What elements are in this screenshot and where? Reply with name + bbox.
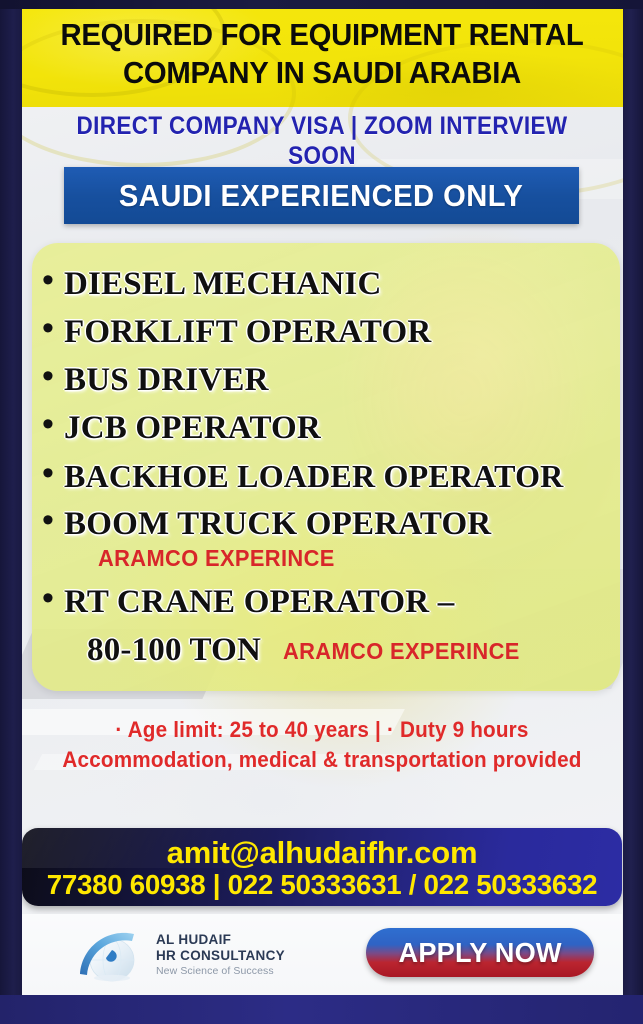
apply-now-label: APPLY NOW: [398, 937, 561, 969]
title-line-1: REQUIRED FOR EQUIPMENT RENTAL: [30, 16, 614, 54]
logo-line-2: HR CONSULTANCY: [156, 948, 285, 964]
list-item: • RT CRANE OPERATOR –: [42, 583, 620, 621]
contact-panel: amit@alhudaifhr.com 77380 60938 | 022 50…: [22, 828, 622, 906]
visa-subheadline: DIRECT COMPANY VISA | ZOOM INTERVIEW SOO…: [48, 111, 595, 171]
terms-block: · Age limit: 25 to 40 years | · Duty 9 h…: [18, 715, 626, 775]
footer-bar: AL HUDAIF HR CONSULTANCY New Science of …: [22, 914, 622, 995]
company-logo: AL HUDAIF HR CONSULTANCY New Science of …: [72, 926, 285, 984]
job-title: BACKHOE LOADER OPERATOR: [64, 457, 563, 495]
contact-email[interactable]: amit@alhudaifhr.com: [22, 834, 622, 872]
title-line-2: COMPANY IN SAUDI ARABIA: [30, 54, 614, 92]
experience-banner-label: SAUDI EXPERIENCED ONLY: [119, 178, 523, 214]
bullet-icon: •: [42, 581, 64, 615]
job-title: DIESEL MECHANIC: [64, 265, 381, 303]
job-title: BUS DRIVER: [64, 361, 269, 399]
job-title-continuation: 80-100 TON: [87, 631, 261, 669]
frame-top-edge: [0, 0, 643, 9]
apply-now-button[interactable]: APPLY NOW: [366, 928, 594, 977]
job-title: FORKLIFT OPERATOR: [64, 313, 431, 351]
bullet-icon: •: [42, 359, 64, 393]
list-item: • JCB OPERATOR: [42, 409, 620, 447]
logo-tagline: New Science of Success: [156, 964, 285, 978]
job-title: JCB OPERATOR: [64, 409, 321, 447]
list-item: • BACKHOE LOADER OPERATOR: [42, 457, 620, 495]
globe-logo-icon: [72, 926, 150, 984]
bullet-icon: •: [42, 311, 64, 345]
list-item: • DIESEL MECHANIC: [42, 265, 620, 303]
logo-text-block: AL HUDAIF HR CONSULTANCY New Science of …: [156, 932, 285, 978]
list-item: • BOOM TRUCK OPERATOR: [42, 505, 620, 543]
frame-bottom-edge: [0, 995, 643, 1024]
aramco-experience-note: ARAMCO EXPERINCE: [283, 638, 520, 664]
frame-left-edge: [0, 0, 22, 1024]
logo-line-1: AL HUDAIF: [156, 932, 285, 948]
experience-banner: SAUDI EXPERIENCED ONLY: [64, 167, 579, 224]
bullet-icon: •: [42, 263, 64, 297]
bullet-icon: •: [42, 407, 64, 441]
job-note-wrapper: ARAMCO EXPERINCE: [98, 545, 352, 571]
job-title: RT CRANE OPERATOR –: [64, 583, 454, 621]
job-capacity-row: 80-100 TON ARAMCO EXPERINCE: [87, 631, 538, 669]
frame-right-edge: [623, 0, 643, 1024]
page-title: REQUIRED FOR EQUIPMENT RENTAL COMPANY IN…: [30, 16, 614, 92]
age-duty-line: · Age limit: 25 to 40 years | · Duty 9 h…: [36, 715, 608, 745]
list-item: • FORKLIFT OPERATOR: [42, 313, 620, 351]
job-advertisement-poster: REQUIRED FOR EQUIPMENT RENTAL COMPANY IN…: [0, 0, 643, 1024]
benefits-line: Accommodation, medical & transportation …: [36, 745, 608, 775]
job-title: BOOM TRUCK OPERATOR: [64, 505, 491, 543]
contact-phones[interactable]: 77380 60938 | 022 50333631 / 022 5033363…: [25, 868, 619, 902]
bullet-icon: •: [42, 503, 64, 537]
list-item: • BUS DRIVER: [42, 361, 620, 399]
job-list: • DIESEL MECHANIC • FORKLIFT OPERATOR • …: [32, 243, 620, 691]
aramco-experience-note: ARAMCO EXPERINCE: [98, 545, 335, 571]
bullet-icon: •: [42, 456, 64, 490]
